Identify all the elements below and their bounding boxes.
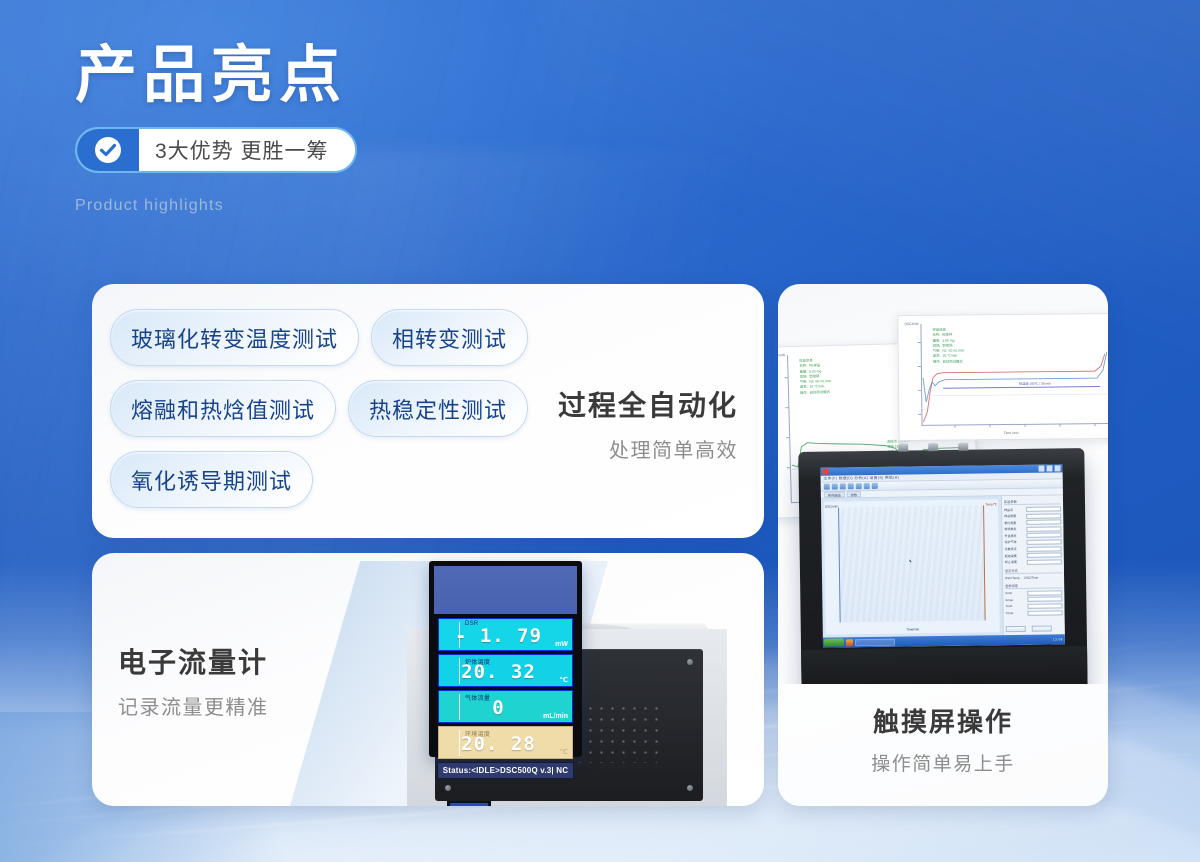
axis-field[interactable]: Ymax — [1006, 610, 1063, 616]
readout-label: 环境温度 — [465, 729, 490, 738]
page-subtitle-en: Product highlights — [75, 197, 635, 215]
highlight-badge: 3大优势 更胜一筹 — [75, 127, 357, 173]
monitor-connector — [928, 443, 938, 451]
page-header: 产品亮点 3大优势 更胜一筹 Product highlights — [75, 42, 635, 215]
taskbar-window-button[interactable] — [855, 638, 895, 646]
display-mode-title: 显示方式 — [1005, 567, 1062, 574]
card-automation: 玻璃化转变温度测试 相转变测试 熔融和热焓值测试 热稳定性测试 氧化诱导期测试 … — [92, 284, 764, 538]
window-controls[interactable] — [1038, 465, 1060, 471]
side-field-input[interactable] — [1027, 546, 1062, 551]
zoom-icon[interactable] — [848, 483, 854, 489]
side-field-label: 坩埚类型 — [1004, 527, 1024, 531]
windows-taskbar[interactable]: 13:08 — [823, 634, 1065, 647]
automation-subtitle: 处理简单高效 — [558, 434, 738, 463]
side-field-input[interactable] — [1027, 539, 1062, 544]
app-body: DSC/mW Temp/℃ Time/min 实验参数 样品名 样品重量 参比重… — [821, 495, 1065, 637]
panel-screw — [445, 785, 451, 791]
touchscreen-illustration: DSC/mW 样品信息 名称: PE样品 重量: 5.20 mg 坩埚: 铝坩埚… — [778, 284, 1108, 684]
flow-title: 电子流量计 — [118, 641, 269, 681]
chart-y-tick — [786, 437, 789, 438]
chart-curve-svg — [898, 314, 1108, 442]
chart-band-label: 恒温段 180℃ / 30 min — [1019, 381, 1051, 386]
readout-header-bar — [434, 566, 577, 614]
run-icon[interactable] — [856, 483, 862, 489]
confirm-button[interactable] — [1032, 625, 1052, 631]
test-pill[interactable]: 玻璃化转变温度测试 — [110, 309, 359, 366]
test-pill-group: 玻璃化转变温度测试 相转变测试 熔融和热焓值测试 热稳定性测试 氧化诱导期测试 — [110, 309, 580, 522]
side-field-input[interactable] — [1026, 526, 1061, 531]
touchscreen-subtitle: 操作简单易上手 — [778, 749, 1108, 776]
help-icon[interactable] — [872, 483, 878, 489]
axis-field-input[interactable] — [1027, 603, 1062, 608]
side-field-input[interactable] — [1027, 552, 1062, 557]
side-field-input[interactable] — [1026, 520, 1061, 525]
axis-field-label: Xmin — [1005, 591, 1025, 595]
chart-y-tick — [785, 377, 788, 378]
side-field-label: 升温速率 — [1004, 534, 1024, 538]
chart-y-tick — [785, 407, 788, 408]
chart-y-tick — [918, 390, 921, 391]
screen-moire-overlay — [839, 505, 985, 622]
side-field-label: 样品重量 — [1004, 514, 1024, 518]
taskbar-clock: 13:08 — [1053, 637, 1063, 641]
side-field-input[interactable] — [1026, 513, 1061, 518]
monitor-bezel-bottom — [801, 646, 1088, 684]
check-circle-icon — [77, 129, 139, 171]
panel-screw — [687, 785, 693, 791]
side-field-label: 参比重量 — [1004, 521, 1024, 525]
axis-settings-title: 坐标设定 — [1005, 582, 1062, 589]
flow-readout-display: DSR - 1. 79 mW 炉体温度 20. 32 ℃ 气体流量 0 mL/m… — [429, 561, 582, 757]
radio-dsc-temp[interactable]: DSC/Temp — [1005, 576, 1020, 580]
readout-label: 炉体温度 — [465, 657, 490, 666]
readout-row-gas-flow: 气体流量 0 mL/min — [438, 690, 573, 723]
flow-subtitle: 记录流量更精准 — [118, 691, 269, 720]
side-field-input[interactable] — [1026, 506, 1061, 511]
test-pill-row: 氧化诱导期测试 — [110, 451, 580, 508]
save-icon[interactable] — [832, 483, 838, 489]
stop-icon[interactable] — [864, 483, 870, 489]
open-icon[interactable] — [824, 484, 830, 490]
chart-y-tick — [918, 342, 921, 343]
chart-y-tick — [787, 467, 790, 468]
readout-row-divider — [459, 622, 460, 648]
plot-x-axis-label: Time/min — [906, 627, 919, 631]
readout-row-divider — [459, 658, 460, 684]
app-icon — [823, 469, 829, 475]
test-pill[interactable]: 氧化诱导期测试 — [110, 451, 313, 508]
automation-heading-block: 过程全自动化 处理简单高效 — [558, 384, 738, 463]
printed-chart-right: DSC/mW 样品信息 名称: 标准样 重量: 4.85 mg 坩埚: 铝坩埚 … — [897, 313, 1108, 441]
side-field-label: 终止温度 — [1005, 560, 1025, 564]
axis-field-input[interactable] — [1028, 610, 1063, 615]
automation-title: 过程全自动化 — [558, 384, 738, 424]
panel-screw — [687, 659, 693, 665]
radio-dsc-time[interactable]: DSC/Time — [1024, 575, 1038, 579]
test-pill-row: 玻璃化转变温度测试 相转变测试 — [110, 309, 580, 366]
chart-x-tick — [1024, 424, 1025, 427]
touchscreen-heading-block: 触摸屏操作 操作简单易上手 — [778, 702, 1108, 776]
tab-parameters[interactable]: 参数 — [847, 491, 861, 497]
side-field-label: 样品名 — [1004, 507, 1024, 511]
readout-row-furnace-temp: 炉体温度 20. 32 ℃ — [438, 654, 573, 687]
monitor-connector — [958, 443, 968, 451]
axis-field[interactable]: Ymin — [1005, 603, 1062, 609]
readout-row-divider — [459, 694, 460, 720]
monitor-connector — [898, 443, 908, 451]
chart-x-tick — [989, 424, 990, 427]
chart-y-tick — [918, 366, 921, 367]
readout-row-dsr: DSR - 1. 79 mW — [438, 618, 573, 651]
quicklaunch-icon[interactable] — [846, 639, 853, 646]
side-field[interactable]: 样品重量 — [1004, 513, 1061, 519]
axis-field-label: Ymin — [1005, 604, 1025, 608]
apply-button[interactable] — [1006, 625, 1026, 631]
readout-row-divider — [459, 730, 460, 756]
side-field-input[interactable] — [1027, 559, 1062, 564]
readout-row-ambient-temp: 环境温度 20. 28 ℃ — [438, 726, 573, 759]
plot-y-axis-label: DSC/mW — [825, 504, 838, 508]
side-field-label: 保护气体 — [1005, 540, 1025, 544]
flow-instrument-illustration: DSR - 1. 79 mW 炉体温度 20. 32 ℃ 气体流量 0 mL/m… — [307, 553, 764, 806]
chart-x-tick — [1094, 423, 1095, 426]
readout-unit: ℃ — [560, 676, 568, 684]
touchscreen-title: 触摸屏操作 — [778, 702, 1108, 739]
readout-status-bar: Status:<IDLE>DSC500Q v.3| NC — [437, 762, 574, 779]
side-field[interactable]: 样品名 — [1004, 506, 1061, 512]
plot-canvas[interactable] — [838, 505, 986, 622]
axis-field-input[interactable] — [1027, 597, 1062, 602]
side-panel-title: 实验参数 — [1004, 498, 1061, 505]
chart-y-tick — [918, 414, 921, 415]
card-flow-meter: 电子流量计 记录流量更精准 — [92, 553, 764, 806]
side-field[interactable]: 流量设定 — [1005, 546, 1062, 552]
side-field[interactable]: 升温速率 — [1004, 533, 1061, 539]
side-field-input[interactable] — [1026, 533, 1061, 538]
test-pill-row: 熔融和热焓值测试 热稳定性测试 — [110, 380, 580, 437]
side-field[interactable]: 坩埚类型 — [1004, 526, 1061, 532]
axis-field-label: Xmax — [1005, 598, 1025, 602]
card-touchscreen: DSC/mW 样品信息 名称: PE样品 重量: 5.20 mg 坩埚: 铝坩埚… — [778, 284, 1108, 806]
side-field-label: 起始温度 — [1005, 554, 1025, 558]
side-field[interactable]: 保护气体 — [1005, 539, 1062, 545]
side-field[interactable]: 起始温度 — [1005, 552, 1062, 558]
readout-label: DSR — [465, 621, 479, 627]
print-icon[interactable] — [840, 483, 846, 489]
test-pill[interactable]: 热稳定性测试 — [348, 380, 528, 437]
highlight-badge-label: 3大优势 更胜一筹 — [139, 129, 355, 171]
display-mode-radio-group[interactable]: DSC/Temp DSC/Time — [1005, 575, 1062, 580]
readout-unit: ℃ — [560, 748, 568, 756]
side-field-label: 流量设定 — [1005, 547, 1025, 551]
app-side-panel[interactable]: 实验参数 样品名 样品重量 参比重量 坩埚类型 升温速率 保护气体 流量设定 起… — [1001, 495, 1065, 635]
test-pill[interactable]: 熔融和热焓值测试 — [110, 380, 336, 437]
readout-unit: mW — [555, 641, 568, 648]
axis-field[interactable]: Xmin — [1005, 590, 1062, 596]
plot-secondary-y-axis-label: Temp/℃ — [985, 502, 997, 506]
chart-x-tick — [954, 425, 955, 428]
readout-label: 气体流量 — [465, 693, 490, 702]
side-field[interactable]: 终止温度 — [1005, 559, 1062, 565]
readout-unit: mL/min — [543, 713, 568, 720]
axis-field-label: Ymax — [1006, 611, 1026, 615]
axis-field-input[interactable] — [1027, 590, 1062, 595]
tab-live-curve[interactable]: 实时曲线 — [824, 491, 845, 497]
side-field[interactable]: 参比重量 — [1004, 520, 1061, 526]
monitor-screen[interactable]: 文件(F) 数据(D) 分析(A) 设置(S) 帮助(H) 实时曲线 参数 — [821, 464, 1065, 647]
app-plot-area[interactable]: DSC/mW Temp/℃ Time/min — [824, 499, 1000, 634]
chart-x-tick — [1059, 423, 1060, 426]
chart-x-label: Time /min — [1004, 431, 1019, 435]
start-button-icon[interactable] — [824, 638, 844, 646]
test-pill[interactable]: 相转变测试 — [371, 309, 528, 366]
axis-field[interactable]: Xmax — [1005, 597, 1062, 603]
mini-display-header — [450, 803, 488, 806]
flow-heading-block: 电子流量计 记录流量更精准 — [118, 641, 269, 720]
touchscreen-monitor: 文件(F) 数据(D) 分析(A) 设置(S) 帮助(H) 实时曲线 参数 — [798, 448, 1087, 684]
page-title: 产品亮点 — [75, 42, 635, 107]
